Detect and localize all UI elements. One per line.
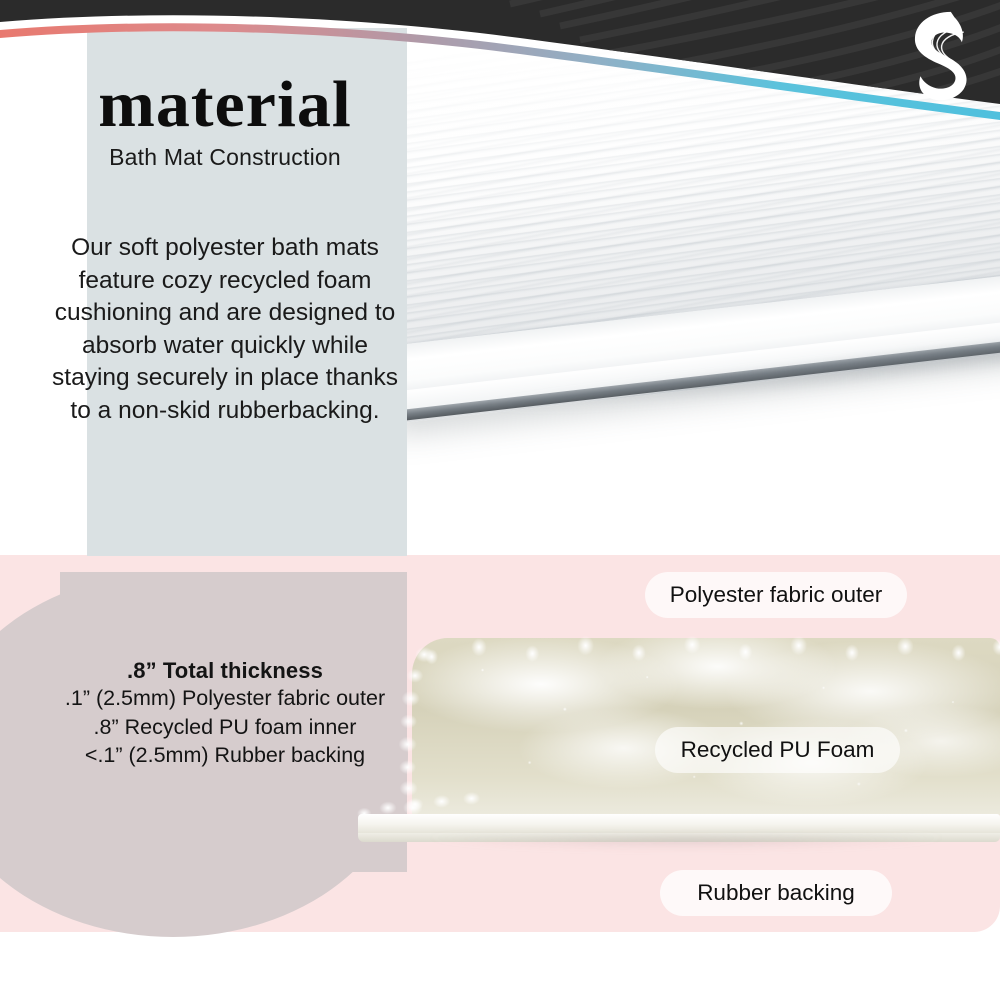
- thickness-spec-block: .8” Total thickness .1” (2.5mm) Polyeste…: [40, 658, 410, 770]
- infographic-canvas: material Bath Mat Construction Our soft …: [0, 0, 1000, 1000]
- spec-line-fabric: .1” (2.5mm) Polyester fabric outer: [40, 684, 410, 713]
- cross-section-shadow: [392, 836, 980, 854]
- spec-line-foam: .8” Recycled PU foam inner: [40, 713, 410, 742]
- spec-line-rubber: <.1” (2.5mm) Rubber backing: [40, 741, 410, 770]
- spec-heading: .8” Total thickness: [40, 658, 410, 684]
- description-text: Our soft polyester bath mats feature coz…: [46, 232, 404, 427]
- callout-rubber-backing: Rubber backing: [660, 870, 892, 916]
- page-subtitle: Bath Mat Construction: [60, 144, 390, 171]
- callout-recycled-pu-foam: Recycled PU Foam: [655, 727, 900, 773]
- page-title: material: [55, 72, 395, 138]
- fabric-fuzz-top-edge: [408, 628, 1000, 668]
- callout-polyester-fabric-outer: Polyester fabric outer: [645, 572, 907, 618]
